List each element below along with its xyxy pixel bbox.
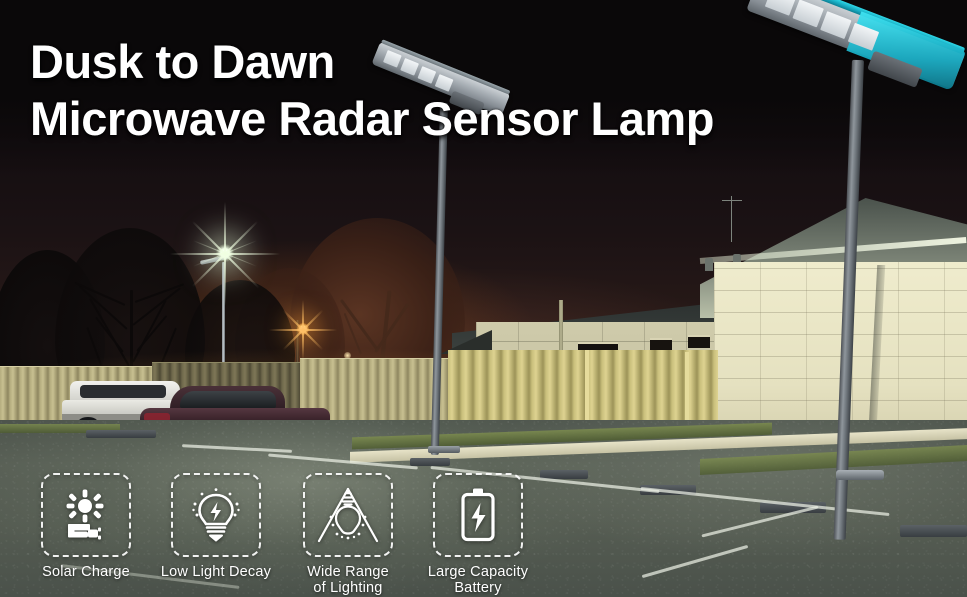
roof-antenna-cross [722, 200, 742, 201]
feature-wide-range[interactable]: Wide Range of Lighting [288, 473, 408, 596]
feature-badge-box [303, 473, 393, 557]
feature-label: Wide Range of Lighting [307, 564, 389, 596]
headline-line-1: Dusk to Dawn [30, 38, 714, 86]
feature-label: Large Capacity Battery [428, 564, 528, 596]
roof-antenna [731, 196, 732, 242]
solar-charge-icon [60, 489, 112, 541]
feature-badge-box [433, 473, 523, 557]
feature-badge-box [171, 473, 261, 557]
battery-icon [456, 487, 500, 543]
lamp-pole-right [834, 60, 864, 540]
feature-low-light-decay[interactable]: Low Light Decay [156, 473, 276, 580]
feature-battery[interactable]: Large Capacity Battery [418, 473, 538, 596]
feature-label: Low Light Decay [161, 564, 271, 580]
feature-badge-row: Solar Charge [26, 473, 538, 596]
lamp-fixture-right [715, 0, 967, 143]
lamp-base-plate-right [836, 470, 884, 480]
wide-beam-icon [317, 487, 379, 543]
roof-vent-1 [705, 258, 713, 271]
product-banner: Dusk to Dawn Microwave Radar Sensor Lamp [0, 0, 967, 597]
wheel-stop-1 [410, 458, 450, 466]
feature-solar-charge[interactable]: Solar Charge [26, 473, 146, 580]
feature-label: Solar Charge [42, 564, 130, 580]
light-bulb-icon [190, 488, 242, 542]
house-window-3 [688, 335, 710, 348]
lamp-base-plate-left [428, 446, 460, 453]
solar-street-lamp-right [742, 0, 967, 520]
feature-badge-box [41, 473, 131, 557]
headline-line-2: Microwave Radar Sensor Lamp [30, 95, 714, 143]
wheel-stop-5 [900, 525, 967, 537]
headline: Dusk to Dawn Microwave Radar Sensor Lamp [30, 38, 714, 143]
wheel-stop-under-sedan [86, 430, 156, 438]
lamp-pole-left [431, 103, 448, 455]
